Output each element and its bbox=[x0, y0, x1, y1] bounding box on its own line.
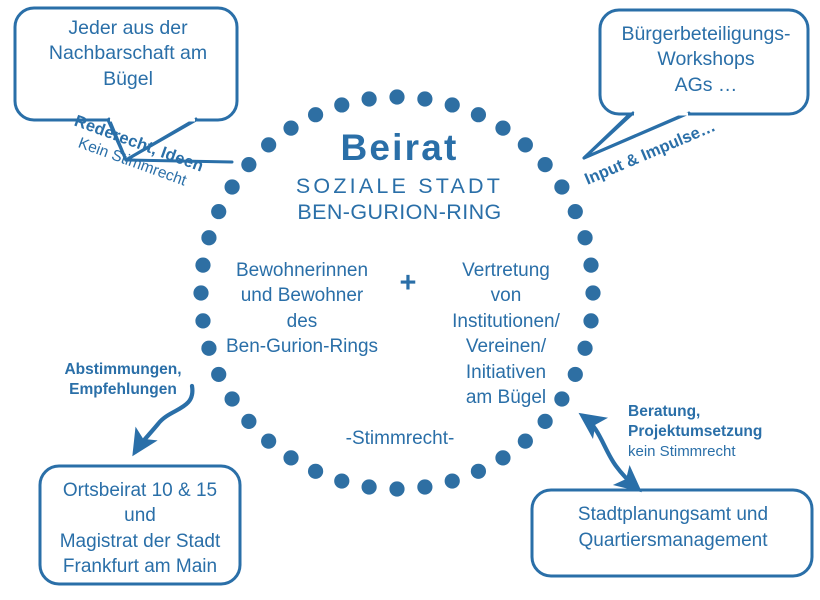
ring-dot bbox=[417, 91, 432, 106]
ring-dot bbox=[445, 97, 460, 112]
ring-dot bbox=[201, 230, 216, 245]
ring-dot bbox=[308, 107, 323, 122]
ring-dot bbox=[261, 434, 276, 449]
ring-dot bbox=[211, 204, 226, 219]
box-bottom-right bbox=[532, 490, 812, 576]
ring-dot bbox=[389, 89, 404, 104]
ring-dot bbox=[283, 450, 298, 465]
ring-dot bbox=[389, 481, 404, 496]
box-bottom-left bbox=[40, 466, 240, 584]
connector-label-bottom-right-line-3: kein Stimmrecht bbox=[628, 442, 796, 462]
circle-column-left-line-1: Bewohnerinnen bbox=[218, 258, 386, 283]
bubble-body-top-left bbox=[15, 8, 237, 120]
bubble-body-top-right bbox=[600, 10, 808, 114]
plus-operator: + bbox=[386, 258, 430, 300]
ring-dot bbox=[417, 479, 432, 494]
ring-dot bbox=[308, 464, 323, 479]
circle-column-right-line-1: Vertretung bbox=[430, 258, 582, 283]
ring-dot bbox=[518, 434, 533, 449]
ring-dot bbox=[538, 414, 553, 429]
circle-body-group: Bewohnerinnen und Bewohner des Ben-Gurio… bbox=[205, 258, 595, 411]
ring-dot bbox=[471, 107, 486, 122]
circle-title: Beirat bbox=[237, 129, 562, 168]
diagram-canvas: Jeder aus der Nachbarschaft am Bügel Bür… bbox=[0, 0, 820, 600]
circle-subtitle-2: BEN-GURION-RING bbox=[237, 200, 562, 225]
connector-label-bottom-right: Beratung, Projektumsetzung kein Stimmrec… bbox=[628, 402, 796, 462]
ring-dot bbox=[445, 473, 460, 488]
circle-column-right-line-6: am Bügel bbox=[430, 385, 582, 410]
ring-dot bbox=[471, 464, 486, 479]
ring-dot bbox=[334, 97, 349, 112]
connector-label-bottom-left: Abstimmungen, Empfehlungen bbox=[48, 360, 198, 400]
ring-dot bbox=[334, 473, 349, 488]
circle-column-left-line-2: und Bewohner bbox=[218, 283, 386, 308]
ring-dot bbox=[241, 414, 256, 429]
connector-label-bottom-right-line-1: Beratung, bbox=[628, 402, 796, 422]
circle-column-left: Bewohnerinnen und Bewohner des Ben-Gurio… bbox=[218, 258, 386, 360]
circle-column-right: Vertretung von Institutionen/ Vereinen/ … bbox=[430, 258, 582, 411]
ring-dot bbox=[568, 204, 583, 219]
circle-footer-stimmrecht: -Stimmrecht- bbox=[300, 428, 500, 450]
circle-column-right-line-4: Vereinen/ bbox=[430, 334, 582, 359]
connector-label-bottom-left-line-1: Abstimmungen, bbox=[48, 360, 198, 380]
circle-column-right-line-3: Institutionen/ bbox=[430, 309, 582, 334]
ring-dot bbox=[362, 479, 377, 494]
connector-label-bottom-right-line-2: Projektumsetzung bbox=[628, 422, 796, 442]
ring-dot bbox=[577, 230, 592, 245]
circle-column-left-line-4: Ben-Gurion-Rings bbox=[218, 334, 386, 359]
circle-column-left-line-3: des bbox=[218, 309, 386, 334]
circle-column-right-line-5: Initiativen bbox=[430, 360, 582, 385]
ring-dot bbox=[362, 91, 377, 106]
circle-column-right-line-2: von bbox=[430, 283, 582, 308]
ring-dot bbox=[495, 450, 510, 465]
connector-label-bottom-left-line-2: Empfehlungen bbox=[48, 380, 198, 400]
circle-subtitle-1: SOZIALE STADT bbox=[237, 174, 562, 199]
circle-heading-group: Beirat SOZIALE STADT BEN-GURION-RING bbox=[237, 129, 562, 225]
